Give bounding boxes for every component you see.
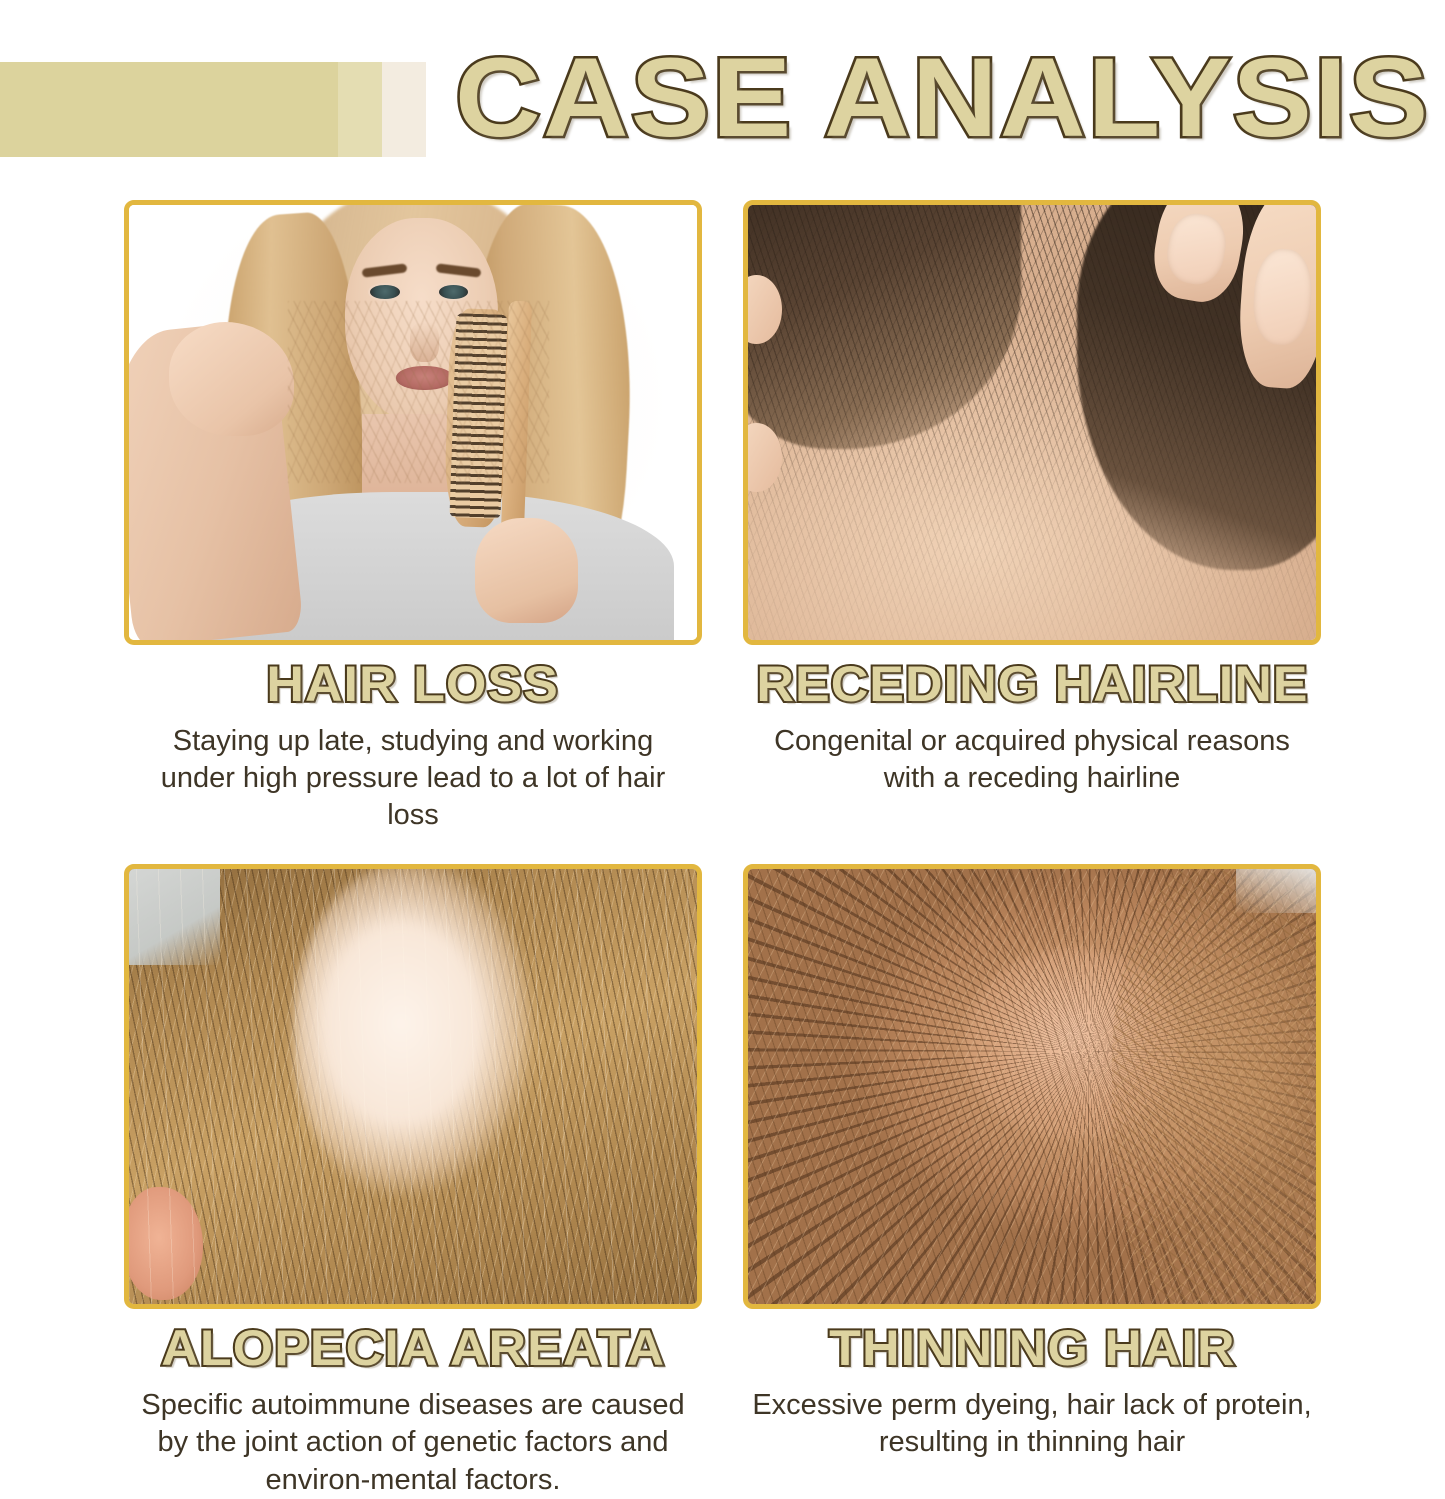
case-card-hair-loss: HAIR LOSS Staying up late, studying and … [124, 200, 702, 834]
card-title-alopecia-areata: ALOPECIA AREATA [161, 1323, 665, 1373]
case-row-bottom: ALOPECIA AREATA Specific autoimmune dise… [0, 864, 1445, 1498]
photo-frame-receding-hairline [743, 200, 1321, 645]
flyaway-hairs [129, 869, 697, 1304]
photo-hair-loss [129, 205, 697, 640]
case-row-top: HAIR LOSS Staying up late, studying and … [0, 200, 1445, 834]
case-card-receding-hairline: RECEDING HAIRLINE Congenital or acquired… [743, 200, 1321, 834]
photo-frame-hair-loss [124, 200, 702, 645]
card-description-hair-loss: Staying up late, studying and working un… [133, 723, 693, 834]
background-corner [1236, 869, 1316, 913]
photo-frame-alopecia-areata [124, 864, 702, 1309]
card-title-receding-hairline: RECEDING HAIRLINE [756, 659, 1308, 709]
header-accent-bar [0, 62, 426, 157]
photo-alopecia-areata [129, 869, 697, 1304]
case-card-thinning-hair: THINNING HAIR Excessive perm dyeing, hai… [743, 864, 1321, 1498]
header-bar-segment-3 [382, 62, 426, 157]
card-description-thinning-hair: Excessive perm dyeing, hair lack of prot… [752, 1387, 1312, 1461]
right-hand [475, 518, 577, 622]
header-bar-segment-2 [338, 62, 382, 157]
photo-thinning-hair [748, 869, 1316, 1304]
photo-receding-hairline [748, 205, 1316, 640]
page-title: CASE ANALYSIS [455, 42, 1430, 154]
case-grid: HAIR LOSS Staying up late, studying and … [0, 200, 1445, 1499]
card-title-hair-loss: HAIR LOSS [267, 659, 560, 709]
page-header: CASE ANALYSIS [0, 0, 1445, 180]
tangled-hair [1112, 869, 1316, 1304]
case-card-alopecia-areata: ALOPECIA AREATA Specific autoimmune dise… [124, 864, 702, 1498]
row-spacer [0, 834, 1445, 864]
photo-frame-thinning-hair [743, 864, 1321, 1309]
loose-hair-strands [288, 301, 549, 484]
card-description-alopecia-areata: Specific autoimmune diseases are caused … [133, 1387, 693, 1498]
card-title-thinning-hair: THINNING HAIR [829, 1323, 1235, 1373]
header-bar-segment-1 [0, 62, 338, 157]
card-description-receding-hairline: Congenital or acquired physical reasons … [752, 723, 1312, 797]
